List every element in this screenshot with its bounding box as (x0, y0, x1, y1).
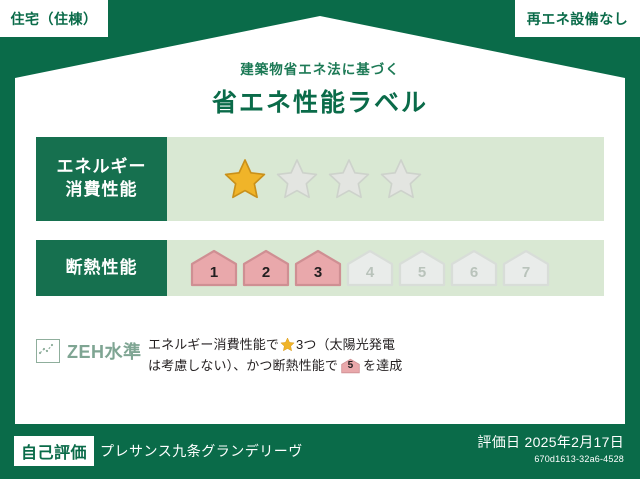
evaluation-id: 670d1613-32a6-4528 (477, 454, 624, 464)
insulation-chip-empty: 7 (501, 248, 551, 288)
badge-housing-type-label: 住宅（住棟） (11, 9, 98, 29)
inline-star-icon (280, 337, 295, 352)
energy-performance-label: 住宅（住棟） 再エネ設備なし 建築物省エネ法に基づく 省エネ性能ラベル エネルギ… (0, 0, 640, 479)
star-empty-icon (379, 157, 423, 201)
footer-right: 評価日 2025年2月17日 670d1613-32a6-4528 (477, 432, 624, 464)
insulation-chip-number: 4 (366, 264, 374, 288)
insulation-chip-number: 3 (314, 264, 322, 288)
insulation-chip-number: 5 (418, 264, 426, 288)
insulation-chip-number: 2 (262, 264, 270, 288)
insulation-chip-empty: 4 (345, 248, 395, 288)
zeh-standard: ZEH水準 (36, 334, 148, 364)
energy-label-line1: エネルギー (57, 156, 147, 179)
energy-performance-label: エネルギー 消費性能 (36, 137, 167, 221)
insulation-chip-empty: 6 (449, 248, 499, 288)
energy-label-line2: 消費性能 (66, 179, 138, 202)
insulation-chip-empty: 5 (397, 248, 447, 288)
insulation-chip-filled: 3 (293, 248, 343, 288)
zeh-chart-icon (36, 339, 60, 363)
insulation-chip-number: 6 (470, 264, 478, 288)
title-block: 建築物省エネ法に基づく 省エネ性能ラベル (0, 58, 640, 119)
badge-renewable-energy: 再エネ設備なし (515, 0, 640, 37)
building-name: プレサンス九条グランデリーヴ (100, 441, 303, 461)
insulation-performance-row: 断熱性能 1234567 (36, 240, 604, 296)
star-empty-icon (327, 157, 371, 201)
insulation-performance-label: 断熱性能 (36, 240, 167, 296)
page-title: 省エネ性能ラベル (0, 83, 640, 119)
self-evaluation-badge: 自己評価 (14, 436, 94, 466)
energy-performance-row: エネルギー 消費性能 (36, 137, 604, 221)
zeh-label: ZEH水準 (67, 338, 142, 364)
inline-grade-chip-number: 5 (340, 358, 361, 374)
energy-star-rating (167, 137, 604, 221)
inline-grade-chip: 5 (340, 358, 361, 374)
star-empty-icon (275, 157, 319, 201)
note-text-part2: 3つ（太陽光発電 (296, 337, 395, 352)
star-filled-icon (223, 157, 267, 201)
evaluation-date: 評価日 2025年2月17日 (477, 432, 624, 452)
badge-renewable-energy-label: 再エネ設備なし (527, 9, 629, 29)
achievement-description: エネルギー消費性能で3つ（太陽光発電は考慮しない）、かつ断熱性能で5を達成 (148, 334, 604, 376)
footer: 自己評価 プレサンス九条グランデリーヴ 評価日 2025年2月17日 670d1… (0, 424, 640, 479)
footer-left: 自己評価 プレサンス九条グランデリーヴ (14, 436, 303, 466)
insulation-label-line1: 断熱性能 (66, 257, 138, 280)
insulation-chip-filled: 1 (189, 248, 239, 288)
note-text-part4: を達成 (363, 358, 402, 373)
insulation-grade-scale: 1234567 (167, 240, 604, 296)
badge-housing-type: 住宅（住棟） (0, 0, 108, 37)
insulation-chip-number: 1 (210, 264, 218, 288)
title-subtitle: 建築物省エネ法に基づく (0, 58, 640, 78)
insulation-chip-filled: 2 (241, 248, 291, 288)
note-text-part3: は考慮しない）、かつ断熱性能で (148, 358, 338, 373)
note-text-part1: エネルギー消費性能で (148, 337, 279, 352)
insulation-chip-number: 7 (522, 264, 530, 288)
zeh-note-block: ZEH水準 エネルギー消費性能で3つ（太陽光発電は考慮しない）、かつ断熱性能で5… (36, 334, 604, 376)
